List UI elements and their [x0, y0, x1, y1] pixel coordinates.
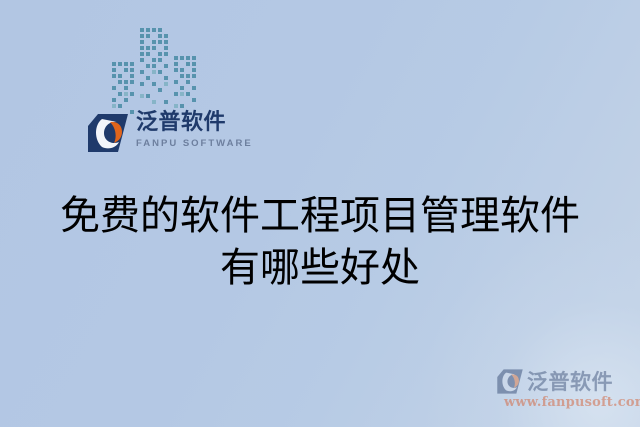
watermark-url: www.fanpusoft.com — [504, 395, 640, 411]
page-title-line-1: 免费的软件工程项目管理软件 — [0, 190, 640, 242]
page-title: 免费的软件工程项目管理软件 有哪些好处 — [0, 190, 640, 294]
watermark-logo-row: 泛普软件 — [496, 368, 640, 395]
brand-name-en: FANPU SOFTWARE — [136, 137, 253, 150]
page-title-line-2: 有哪些好处 — [0, 242, 640, 294]
watermark: 泛普软件 www.fanpusoft.com — [496, 368, 640, 411]
brand-name-cn: 泛普软件 — [136, 110, 253, 136]
fanpu-logo-mark-watermark-icon — [496, 368, 524, 395]
poster-canvas: 泛普软件 FANPU SOFTWARE 免费的软件工程项目管理软件 有哪些好处 … — [0, 0, 640, 427]
watermark-name-cn: 泛普软件 — [527, 370, 613, 394]
fanpu-logo-mark-icon — [86, 112, 130, 154]
pixel-buildings-graphic — [108, 24, 204, 116]
brand-logo: 泛普软件 FANPU SOFTWARE — [86, 110, 253, 154]
brand-text: 泛普软件 FANPU SOFTWARE — [136, 110, 253, 150]
